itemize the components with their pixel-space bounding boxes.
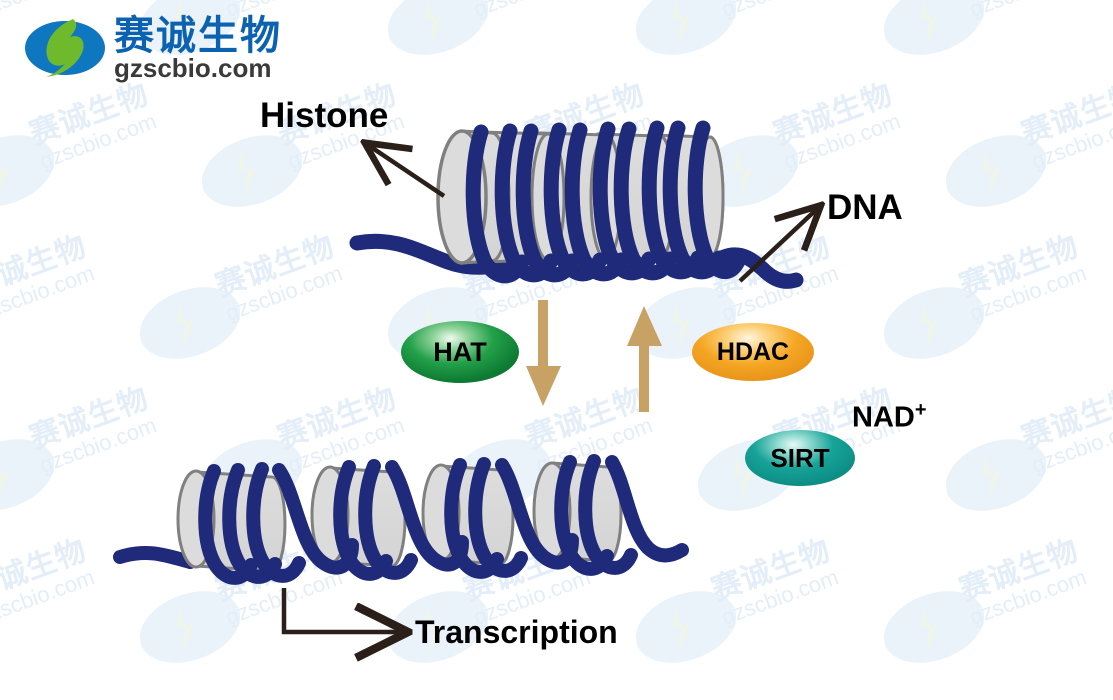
enzyme-bubble-hat: HAT xyxy=(401,321,519,383)
dna-label: DNA xyxy=(827,188,903,228)
diagram-artwork xyxy=(0,0,1113,700)
nad-text: NAD xyxy=(852,402,915,434)
enzyme-bubble-hdac: HDAC xyxy=(692,323,814,381)
deacetylation-arrow-up xyxy=(627,306,662,412)
dna-linker-left-bottom xyxy=(120,553,190,562)
brand-logo: 赛诚生物 gzscbio.com xyxy=(24,14,282,82)
enzyme-bubble-sirt: SIRT xyxy=(745,430,855,486)
transcription-arrow xyxy=(284,588,404,632)
histone-leader-arrow xyxy=(368,145,444,196)
nad-plus-superscript: + xyxy=(915,399,927,421)
histone-label: Histone xyxy=(260,96,388,136)
condensed-chromatin-structure xyxy=(357,128,796,281)
brand-text: 赛诚生物 gzscbio.com xyxy=(114,15,282,81)
acetylation-arrow-down xyxy=(526,300,561,406)
scbio-logo-icon xyxy=(24,14,106,82)
nad-cofactor-label: NAD+ xyxy=(852,399,927,435)
brand-name-cn: 赛诚生物 xyxy=(114,15,282,57)
open-chromatin-structure xyxy=(120,461,682,578)
dna-leader-arrow xyxy=(740,208,818,281)
transcription-label: Transcription xyxy=(415,614,618,651)
figure-canvas: 赛诚生物gzscbio.com赛诚生物gzscbio.com赛诚生物gzscbi… xyxy=(0,0,1113,700)
brand-website: gzscbio.com xyxy=(114,55,282,81)
